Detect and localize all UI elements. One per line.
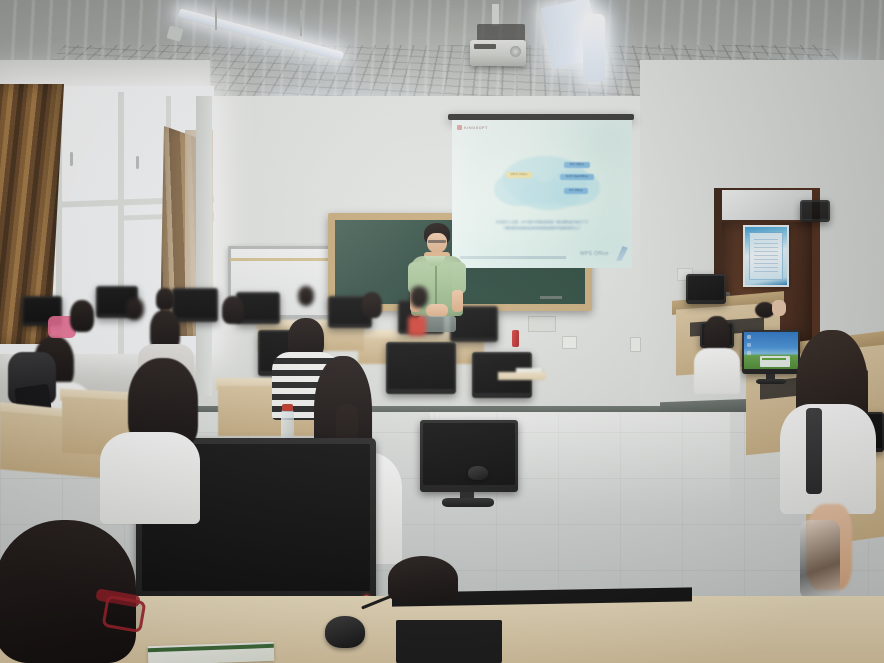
monitor-screen-windows-desktop [744, 332, 798, 369]
desktop-window-titlebar [762, 358, 786, 360]
student-face [772, 300, 786, 316]
paper-handout [148, 642, 275, 663]
wall-trim [540, 296, 562, 299]
student-body [780, 404, 876, 514]
projection-screen: KINGSOFT WPS Office MS Office SUN StarOf… [452, 120, 632, 268]
poster-inner-panel [749, 232, 783, 280]
student-head [222, 296, 244, 324]
student-head [298, 286, 314, 306]
monitor-screen [802, 202, 828, 219]
instructor-forearm-right [452, 290, 463, 312]
student-red-top [408, 316, 426, 336]
tube-light-stem [215, 6, 217, 30]
student-head [362, 292, 382, 318]
red-bottle [512, 330, 519, 347]
projector-lens [510, 46, 521, 57]
student-bag-strap [806, 408, 822, 494]
computer-mouse[interactable] [325, 616, 365, 648]
desktop-icon [747, 335, 751, 339]
wall-panel [528, 316, 556, 332]
student-head [126, 298, 144, 320]
desk-top-right-of-teacher [498, 372, 546, 380]
whiteboard-tray [230, 258, 336, 261]
monitor-screen [388, 344, 454, 389]
window-handle[interactable] [136, 156, 139, 169]
wall-outlet [630, 337, 641, 352]
desktop-monitor [420, 420, 518, 492]
desktop-monitor [172, 288, 218, 322]
student-head-foreground-right [388, 556, 458, 602]
blue-notice-poster [743, 225, 789, 287]
desktop-monitor [686, 274, 726, 304]
wall-outlet [562, 336, 577, 349]
door-transom-window [722, 190, 812, 220]
water-bottle [281, 410, 294, 440]
water-bottle-cap [282, 404, 293, 411]
monitor-base [442, 498, 494, 507]
desktop-monitor [742, 330, 800, 374]
student-body [100, 432, 200, 524]
student-glasses-lens [102, 595, 147, 633]
desktop-icon [747, 343, 751, 347]
student-clothing-pattern [800, 520, 840, 600]
poster-text-lines [754, 239, 778, 273]
monitor-screen [688, 276, 724, 300]
mousepad [396, 620, 502, 663]
desktop-icon [747, 351, 751, 355]
computer-mouse[interactable] [468, 466, 488, 480]
student-head [410, 286, 428, 308]
instructor-face [427, 233, 447, 253]
tube-light-stem [300, 10, 302, 36]
window-handle[interactable] [70, 152, 73, 166]
student-head [70, 300, 94, 332]
classroom-photo-scene: KINGSOFT WPS Office MS Office SUN StarOf… [0, 0, 884, 663]
screen-glare [452, 120, 632, 268]
projector-vent [474, 44, 496, 49]
instructor-glasses [428, 240, 446, 243]
monitor-base [756, 379, 786, 384]
wall-corner [196, 96, 212, 396]
monitor-screen [238, 294, 278, 320]
desktop-monitor [386, 342, 456, 394]
desktop-monitor [800, 200, 830, 222]
projector-mount-rod [492, 4, 499, 26]
handout-green-band [148, 644, 274, 652]
fluorescent-tube-light [583, 14, 605, 82]
student-body [694, 348, 740, 394]
student-head [156, 288, 174, 310]
monitor-screen [174, 290, 216, 318]
